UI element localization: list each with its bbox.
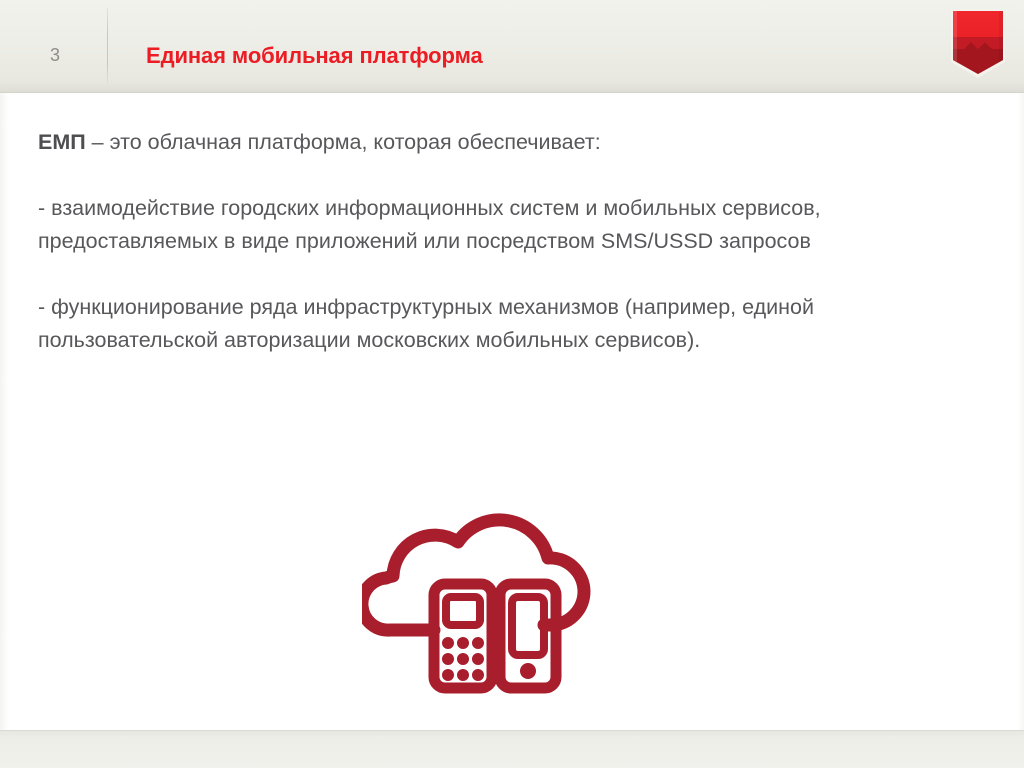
slide-body: ЕМП – это облачная платформа, которая об… [38,126,968,357]
slide-header: 3 Единая мобильная платформа [0,0,1024,93]
smartphone-glyph [500,584,556,688]
slide-footer [0,730,1024,768]
footer-hairline [0,734,1024,735]
page-edge-right [1018,0,1024,768]
lead-strong-term: ЕМП [38,130,86,154]
slide-canvas: 3 Единая мобильная платформа [0,0,1024,768]
lead-rest-text: – это облачная платформа, которая обеспе… [86,130,601,154]
paragraph-lead: ЕМП – это облачная платформа, которая об… [38,126,938,159]
header-vertical-divider [107,8,108,86]
page-title: Единая мобильная платформа [146,44,483,68]
page-edge-left [0,0,9,768]
slide-number: 3 [50,46,61,64]
slide-header-inner: 3 Единая мобильная платформа [9,0,1024,92]
cloud-with-mobile-phones-icon [362,498,612,698]
feature-phone-glyph [434,584,492,688]
paragraph-infrastructure: - функционирование ряда инфраструктурных… [38,291,938,357]
company-bookmark-logo [947,8,1009,80]
paragraph-interaction: - взаимодействие городских информационны… [38,192,938,258]
